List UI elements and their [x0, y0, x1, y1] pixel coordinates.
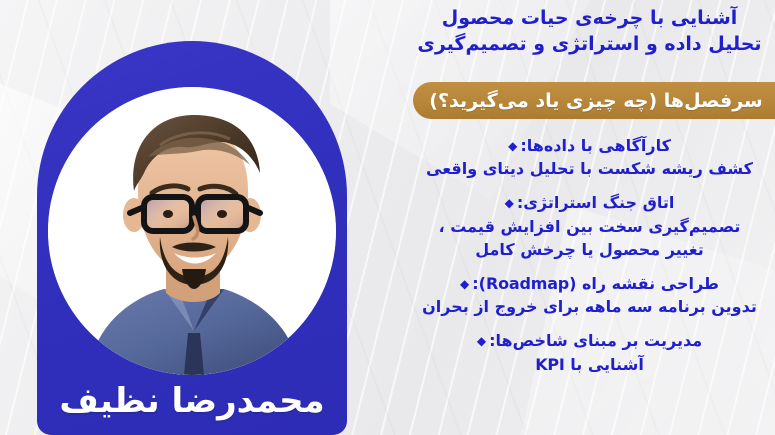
content-column: آشنایی با چرخه‌ی حیات محصول تحلیل داده و…	[404, 0, 775, 435]
topic-detail-line: تصمیم‌گیری سخت بین افزایش قیمت ،	[404, 215, 775, 238]
topic-detail-line: آشنایی با KPI	[404, 353, 775, 376]
topics-list: کارآگاهی با داده‌ها:◆ کشف ریشه شکست با ت…	[404, 134, 775, 387]
topic-detail-line: تغییر محصول یا چرخش کامل	[404, 238, 775, 261]
topic-heading: کارآگاهی با داده‌ها:◆	[404, 134, 775, 157]
promo-poster: محمدرضا نظیف آشنایی با چرخه‌ی حیات محصول…	[0, 0, 775, 435]
topic-detail-line: تدوین برنامه سه ماهه برای خروج از بحران	[404, 295, 775, 318]
topic-heading-text: طراحی نقشه راه (Roadmap):	[472, 274, 719, 293]
topic-item: مدیریت بر مبنای شاخص‌ها:◆ آشنایی با KPI	[404, 329, 775, 375]
speaker-panel: محمدرضا نظیف	[37, 41, 347, 435]
topic-heading: مدیریت بر مبنای شاخص‌ها:◆	[404, 329, 775, 352]
topic-heading-text: مدیریت بر مبنای شاخص‌ها:	[489, 331, 702, 350]
topic-heading-text: کارآگاهی با داده‌ها:	[520, 136, 671, 155]
diamond-bullet-icon: ◆	[477, 334, 486, 348]
diamond-bullet-icon: ◆	[460, 277, 469, 291]
page-title: آشنایی با چرخه‌ی حیات محصول تحلیل داده و…	[404, 6, 775, 57]
speaker-avatar	[48, 87, 336, 375]
topics-banner: سرفصل‌ها (چه چیزی یاد می‌گیرید؟)	[413, 82, 775, 119]
title-line-2: تحلیل داده و استراتژی و تصمیم‌گیری	[404, 32, 775, 58]
topic-heading: طراحی نقشه راه (Roadmap):◆	[404, 272, 775, 295]
topic-heading-text: اتاق جنگ استراتژی:	[517, 193, 675, 212]
topics-banner-label: سرفصل‌ها (چه چیزی یاد می‌گیرید؟)	[429, 90, 762, 112]
title-line-1: آشنایی با چرخه‌ی حیات محصول	[404, 6, 775, 32]
topic-item: کارآگاهی با داده‌ها:◆ کشف ریشه شکست با ت…	[404, 134, 775, 180]
speaker-portrait-illustration	[48, 87, 336, 375]
topic-item: اتاق جنگ استراتژی:◆ تصمیم‌گیری سخت بین ا…	[404, 191, 775, 261]
topic-heading: اتاق جنگ استراتژی:◆	[404, 191, 775, 214]
diamond-bullet-icon: ◆	[505, 196, 514, 210]
topic-item: طراحی نقشه راه (Roadmap):◆ تدوین برنامه …	[404, 272, 775, 318]
diamond-bullet-icon: ◆	[508, 139, 517, 153]
topic-detail-line: کشف ریشه شکست با تحلیل دیتای واقعی	[404, 157, 775, 180]
speaker-name: محمدرضا نظیف	[37, 384, 347, 418]
